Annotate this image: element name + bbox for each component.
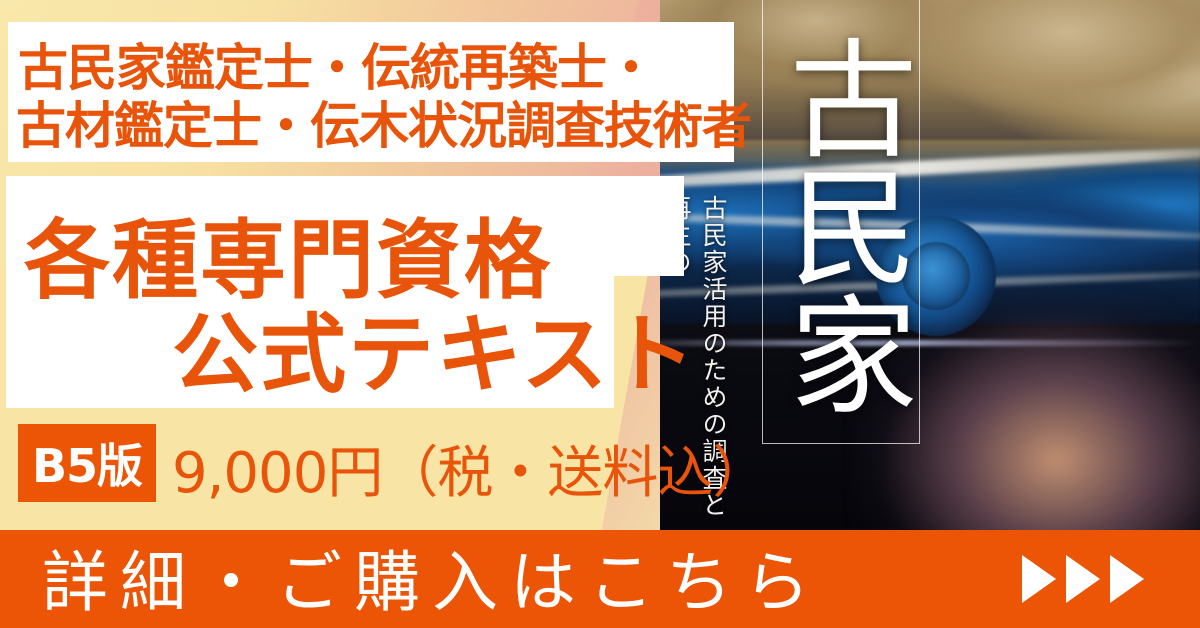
play-triangle-icon (1022, 555, 1056, 603)
qualifications-line-2: 古材鑑定士・伝木状況調査技術者 (16, 86, 751, 158)
price-text: 9,000円（税・送料込） (172, 428, 767, 509)
cta-label: 詳細・ご購入はこちら (42, 529, 822, 625)
cta-arrows (1022, 555, 1144, 603)
play-triangle-icon (1110, 555, 1144, 603)
cta-bar[interactable]: 詳細・ご購入はこちら (0, 530, 1200, 628)
format-badge: B5版 (18, 424, 156, 502)
play-triangle-icon (1066, 555, 1100, 603)
promo-banner: 古民家 伝統構法 古民家活用のための調査と再生の 古民家鑑定士・伝統再築士・ 古… (0, 0, 1200, 628)
cover-title: 古民家 (770, 0, 912, 450)
headline-line-2: 公式テキスト (172, 284, 697, 409)
